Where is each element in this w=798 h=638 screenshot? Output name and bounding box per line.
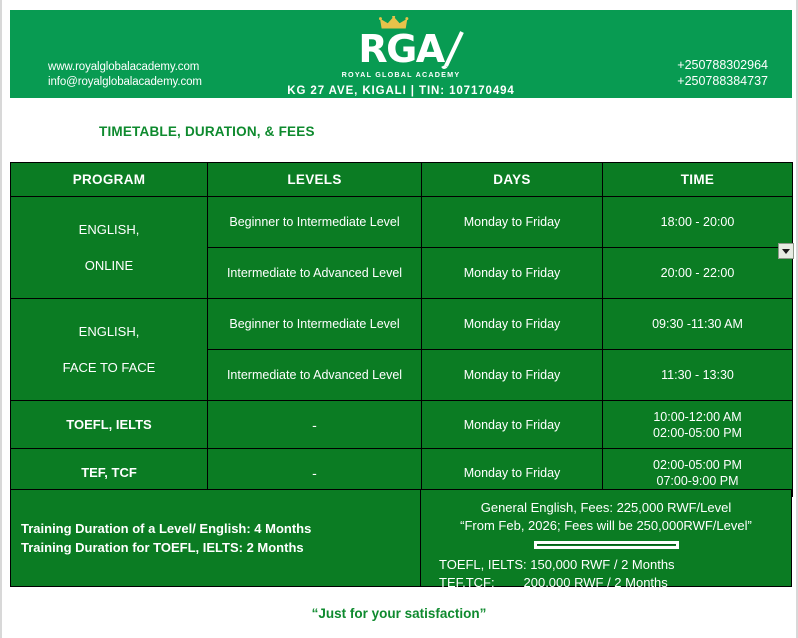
logo-text: RGA <box>358 27 443 71</box>
contact-block-right: +250788302964 +250788384737 <box>677 57 768 89</box>
cell-days: Monday to Friday <box>422 401 603 449</box>
program-line-2: ONLINE <box>17 258 201 274</box>
logo: RGA ROYAL GLOBAL ACADEMY KG 27 AVE, KIGA… <box>286 16 516 97</box>
fees-toefl-ielts: TOEFL, IELTS: 150,000 RWF / 2 Months <box>439 556 781 574</box>
timetable: PROGRAM LEVELS DAYS TIME ENGLISH, ONLINE… <box>10 162 793 497</box>
letterhead-banner: www.royalglobalacademy.com info@royalglo… <box>10 10 792 98</box>
fees-exams-group: TOEFL, IELTS: 150,000 RWF / 2 Months TEF… <box>431 556 781 592</box>
table-row: ENGLISH, FACE TO FACE Beginner to Interm… <box>11 299 793 350</box>
fees-increase-note: “From Feb, 2026; Fees will be 250,000RWF… <box>431 517 781 535</box>
logo-wordmark: RGA <box>358 30 443 68</box>
fees-block: General English, Fees: 225,000 RWF/Level… <box>421 489 792 587</box>
page-title: TIMETABLE, DURATION, & FEES <box>99 124 315 139</box>
phone-secondary: +250788384737 <box>677 73 768 89</box>
chevron-down-glyph <box>782 249 790 254</box>
cell-levels: Intermediate to Advanced Level <box>208 248 422 299</box>
duration-line-1: Training Duration of a Level/ English: 4… <box>21 519 311 538</box>
website-text: www.royalglobalacademy.com <box>48 60 202 75</box>
fees-tef-tcf: TEF,TCF: 200,000 RWF / 2 Months <box>439 574 781 592</box>
column-header-program: PROGRAM <box>11 163 208 197</box>
cell-levels: Intermediate to Advanced Level <box>208 350 422 401</box>
training-duration-block: Training Duration of a Level/ English: 4… <box>10 489 421 587</box>
logo-slash-icon <box>440 30 466 70</box>
cell-days: Monday to Friday <box>422 299 603 350</box>
program-line-1: ENGLISH, <box>17 324 201 340</box>
cell-levels: Beginner to Intermediate Level <box>208 299 422 350</box>
column-header-days: DAYS <box>422 163 603 197</box>
cell-time: 20:00 - 22:00 <box>603 248 793 299</box>
cell-levels: Beginner to Intermediate Level <box>208 197 422 248</box>
time-line-2: 07:00-9:00 PM <box>657 474 739 488</box>
document-page: www.royalglobalacademy.com info@royalglo… <box>0 0 798 638</box>
cell-time: 18:00 - 20:00 <box>603 197 793 248</box>
cell-time: 10:00-12:00 AM 02:00-05:00 PM <box>603 401 793 449</box>
table-header-row: PROGRAM LEVELS DAYS TIME <box>11 163 793 197</box>
cell-levels: - <box>208 401 422 449</box>
program-line-1: ENGLISH, <box>17 222 201 238</box>
fees-general-english-group: General English, Fees: 225,000 RWF/Level… <box>431 499 781 535</box>
phone-primary: +250788302964 <box>677 57 768 73</box>
cell-days: Monday to Friday <box>422 197 603 248</box>
program-line-2: FACE TO FACE <box>17 360 201 376</box>
cell-program-english-online: ENGLISH, ONLINE <box>11 197 208 299</box>
logo-address: KG 27 AVE, KIGALI | TIN: 107170494 <box>286 85 516 97</box>
column-header-levels: LEVELS <box>208 163 422 197</box>
fees-general-english: General English, Fees: 225,000 RWF/Level <box>431 499 781 517</box>
contact-block-left: www.royalglobalacademy.com info@royalglo… <box>48 60 202 90</box>
duration-line-2: Training Duration for TOEFL, IELTS: 2 Mo… <box>21 538 311 557</box>
cell-time: 09:30 -11:30 AM <box>603 299 793 350</box>
horizontal-divider <box>534 541 679 549</box>
column-header-time: TIME <box>603 163 793 197</box>
time-line-1: 02:00-05:00 PM <box>653 458 742 472</box>
time-line-1: 10:00-12:00 AM <box>653 410 741 424</box>
table-row: ENGLISH, ONLINE Beginner to Intermediate… <box>11 197 793 248</box>
table-row: TOEFL, IELTS - Monday to Friday 10:00-12… <box>11 401 793 449</box>
cell-time: 11:30 - 13:30 <box>603 350 793 401</box>
cell-program-english-face-to-face: ENGLISH, FACE TO FACE <box>11 299 208 401</box>
cell-days: Monday to Friday <box>422 248 603 299</box>
cell-program-toefl-ielts: TOEFL, IELTS <box>11 401 208 449</box>
time-line-2: 02:00-05:00 PM <box>653 426 742 440</box>
chevron-down-icon[interactable] <box>778 243 794 259</box>
summary-band: Training Duration of a Level/ English: 4… <box>10 489 792 587</box>
slogan-text: “Just for your satisfaction” <box>2 606 796 621</box>
cell-days: Monday to Friday <box>422 350 603 401</box>
email-text: info@royalglobalacademy.com <box>48 75 202 90</box>
